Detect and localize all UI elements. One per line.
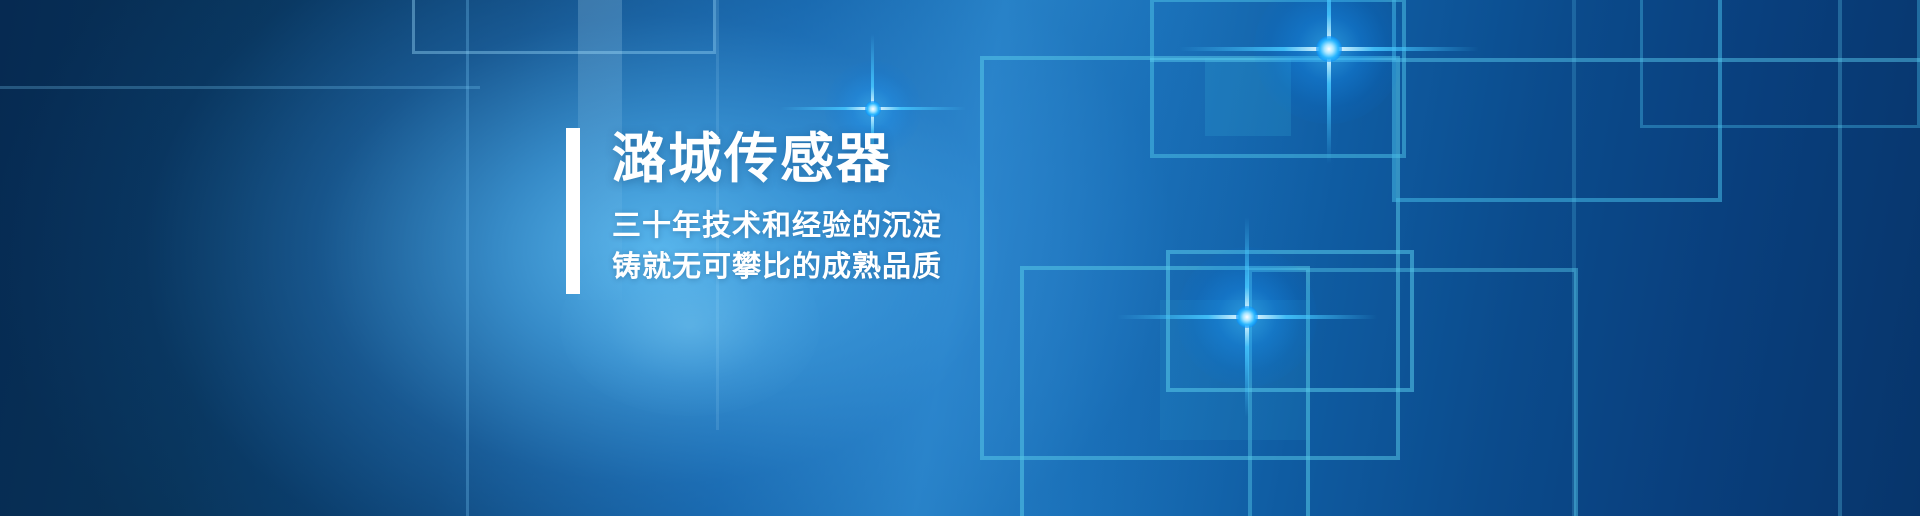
glow-star-mid-left: [872, 108, 873, 109]
hero-banner: 潞城传感器 三十年技术和经验的沉淀 铸就无可攀比的成熟品质: [0, 0, 1920, 516]
decor-square-far-upper-right: [1640, 0, 1920, 128]
decor-rule-vertical-far-right: [1838, 0, 1842, 516]
decor-rule-horizontal-right: [1150, 58, 1920, 62]
glow-star-top-right: [1328, 48, 1329, 49]
glow-ray-horizontal: [1117, 315, 1377, 319]
decor-square-upper-right: [1392, 0, 1722, 202]
glow-halo: [1254, 0, 1404, 124]
decor-square-bottom-center: [1166, 250, 1414, 392]
decor-panel-lower-mid: [1160, 300, 1310, 440]
banner-title: 潞城传感器: [612, 128, 942, 190]
decor-rule-horizontal-left: [0, 86, 480, 89]
banner-subtitle-line-1: 三十年技术和经验的沉淀: [612, 206, 942, 247]
glow-halo: [1177, 247, 1317, 387]
decor-rule-vertical-left: [466, 0, 469, 516]
glow-core: [865, 101, 881, 117]
decor-square-lower-right-2: [1248, 268, 1578, 516]
glow-core: [1236, 306, 1258, 328]
decor-square-mid: [1150, 0, 1406, 158]
decor-square-right-large: [980, 56, 1400, 460]
glow-ray-vertical: [1245, 217, 1249, 417]
glow-ray-vertical: [1327, 0, 1331, 164]
glow-ray-horizontal: [1179, 47, 1479, 51]
decor-rule-vertical-center-right: [1572, 0, 1576, 516]
glow-ray-horizontal: [780, 107, 966, 110]
headline-block: 潞城传感器 三十年技术和经验的沉淀 铸就无可攀比的成熟品质: [566, 128, 942, 294]
glow-star-lower-right: [1246, 316, 1247, 317]
headline-copy: 潞城传感器 三十年技术和经验的沉淀 铸就无可攀比的成熟品质: [612, 128, 942, 294]
decor-square-lower-right: [1020, 266, 1310, 516]
glow-core: [1316, 36, 1342, 62]
accent-bar: [566, 128, 580, 294]
background-decor-layer: [0, 0, 1920, 516]
decor-square-center-top: [412, 0, 716, 54]
decor-panel-teal-upper: [1205, 58, 1291, 136]
banner-subtitle-line-2: 铸就无可攀比的成熟品质: [612, 247, 942, 288]
